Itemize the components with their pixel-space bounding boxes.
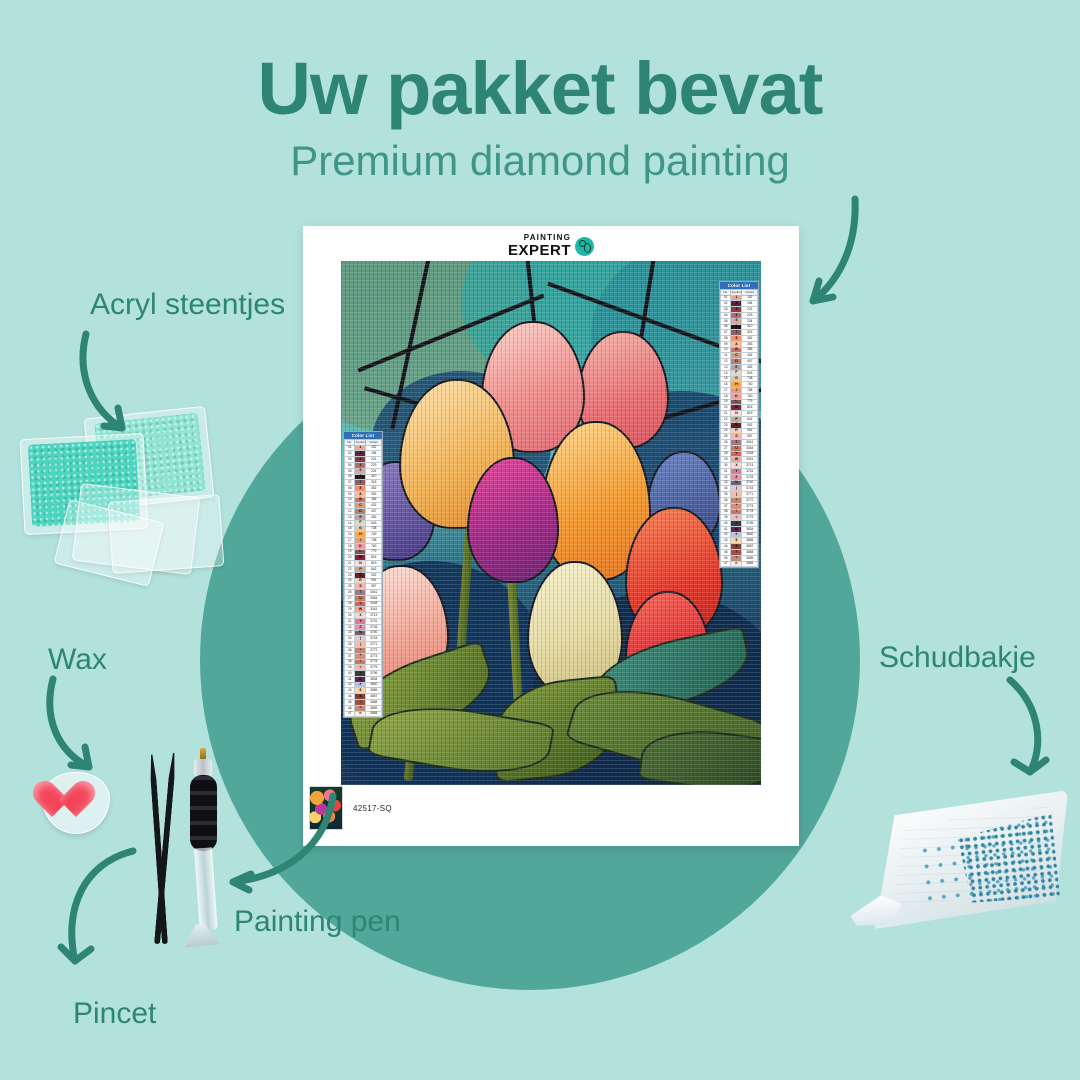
color-list-table: No. Symbol Colour 0111520221540332210442…: [720, 289, 758, 567]
arrow-to-pen-icon: [205, 790, 340, 895]
callout-label-schudbakje: Schudbakje: [879, 641, 1036, 675]
color-row-code: 3865: [366, 711, 382, 717]
brand-line-1: PAINTING: [508, 234, 571, 242]
color-list-row: 47n3865: [721, 561, 758, 567]
color-row-symbol: n: [731, 561, 742, 567]
color-list-title: Color List: [720, 282, 758, 289]
color-list-right: Color List No. Symbol Colour 01115202215…: [719, 281, 759, 568]
color-row-code: 3865: [742, 561, 758, 567]
wax-piece: [42, 772, 110, 834]
arrow-to-canvas-icon: [795, 193, 865, 318]
sku-code: 42517-SQ: [353, 804, 392, 813]
color-row-symbol: n: [355, 711, 366, 717]
color-list-left: Color List No. Symbol Colour 01115202215…: [343, 431, 383, 718]
color-list-table: No. Symbol Colour 0111520221540332210442…: [344, 439, 382, 717]
page-title: Uw pakket bevat: [0, 52, 1080, 126]
color-list-row: 47n3865: [345, 711, 382, 717]
callout-label-wax: Wax: [48, 643, 107, 677]
product-canvas-sheet[interactable]: PAINTING EXPERT: [303, 226, 799, 846]
schudbakje-tray: [850, 800, 1065, 945]
paint-drop-icon: [575, 237, 594, 256]
brand-wordmark: PAINTING EXPERT: [508, 234, 571, 258]
callout-label-painting-pen: Painting pen: [234, 905, 401, 939]
page-subtitle: Premium diamond painting: [0, 140, 1080, 182]
color-list-title: Color List: [344, 432, 382, 439]
wax-heart-icon: [52, 783, 96, 823]
header: Uw pakket bevat Premium diamond painting: [0, 52, 1080, 182]
color-list-body: 0111520221540332210442230552240663100773…: [721, 295, 758, 567]
arrow-to-pincet-icon: [55, 845, 145, 980]
arrow-to-acryl-icon: [78, 330, 168, 440]
color-row-no: 47: [345, 711, 355, 717]
brand-line-2: EXPERT: [508, 243, 571, 258]
callout-label-acryl-steentjes: Acryl steentjes: [90, 288, 285, 322]
arrow-to-schudbakje-icon: [1000, 676, 1060, 786]
color-row-no: 47: [721, 561, 731, 567]
arrow-to-wax-icon: [45, 675, 120, 780]
brand-logo: PAINTING EXPERT: [303, 234, 799, 258]
callout-label-pincet: Pincet: [73, 997, 156, 1031]
artwork-tulips: Color List No. Symbol Colour 01115202215…: [341, 261, 761, 785]
color-list-body: 0111520221540332210442230552240663100773…: [345, 445, 382, 717]
